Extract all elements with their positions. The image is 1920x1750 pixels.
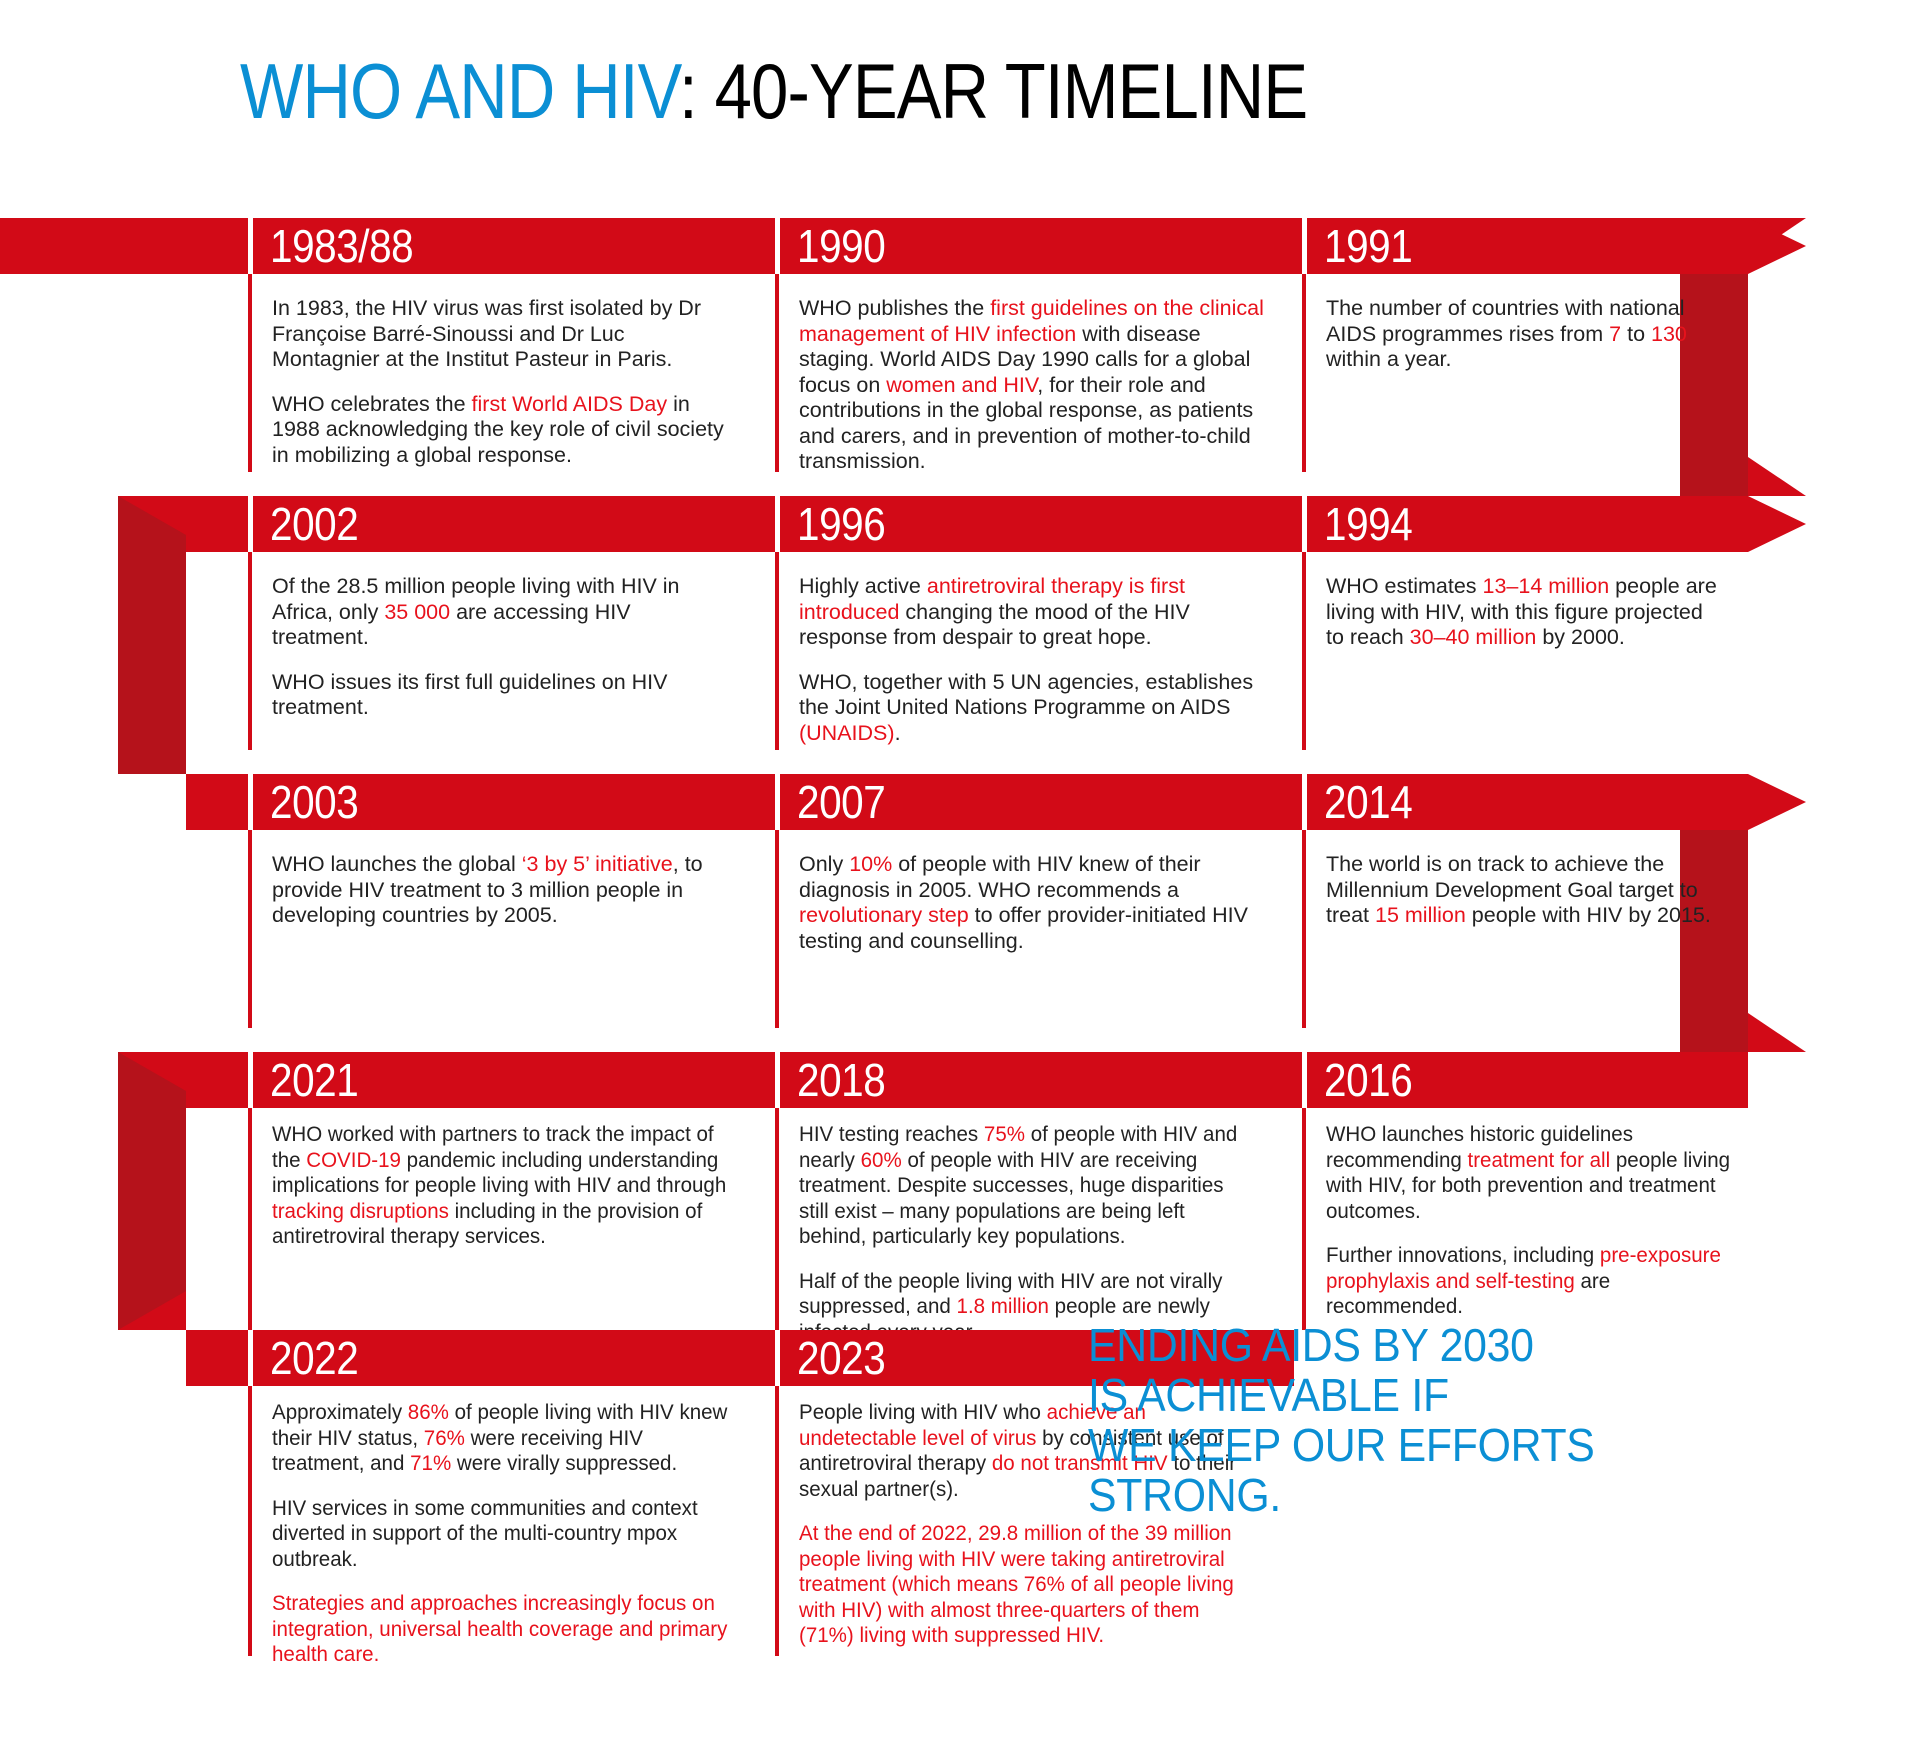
- body-text: People living with HIV who: [799, 1400, 1047, 1424]
- body-text: WHO issues its first full guidelines on …: [272, 670, 668, 720]
- highlight-text: COVID-19: [306, 1148, 401, 1172]
- row-1-header-gap-2: [775, 218, 780, 274]
- body-text: within a year.: [1326, 347, 1451, 371]
- row-3-year-1: 2003: [270, 774, 358, 830]
- row-4-header-bar: [186, 1052, 1748, 1108]
- paragraph: WHO issues its first full guidelines on …: [272, 670, 727, 721]
- row-3-arrow-head: [1748, 774, 1806, 830]
- body-text: Only: [799, 852, 849, 876]
- highlight-text: ‘3 by 5’ initiative: [522, 852, 673, 876]
- row-3-header-gap-2: [775, 774, 780, 830]
- row-4-header-gap-3: [1302, 1052, 1307, 1108]
- row-4-rule-3: [1302, 1108, 1306, 1330]
- highlight-text: revolutionary step: [799, 903, 969, 927]
- highlight-text: 1.8 million: [957, 1294, 1049, 1318]
- paragraph: Strategies and approaches increasingly f…: [272, 1591, 740, 1668]
- row-3-rule-1: [248, 830, 252, 1028]
- row-2-cell-3: WHO estimates 13–14 million people are l…: [1326, 574, 1726, 651]
- connector-right-3-tip-bottom: [1748, 974, 1806, 1052]
- highlight-text: first World AIDS Day: [472, 392, 668, 416]
- paragraph: WHO estimates 13–14 million people are l…: [1326, 574, 1726, 651]
- connector-left-4-tip-top: [118, 1052, 186, 1130]
- paragraph: HIV services in some communities and con…: [272, 1496, 740, 1573]
- row-2-cell-1: Of the 28.5 million people living with H…: [272, 574, 727, 721]
- row-4-year-1: 2021: [270, 1052, 358, 1108]
- row-2-rule-3: [1302, 552, 1306, 750]
- highlight-text: 75%: [984, 1122, 1025, 1146]
- highlight-text: 15 million: [1375, 903, 1466, 927]
- row-4-cell-3: WHO launches historic guidelines recomme…: [1326, 1122, 1746, 1320]
- closing-statement: ENDING AIDS BY 2030IS ACHIEVABLE IFWE KE…: [1088, 1320, 1595, 1520]
- row-4-year-3: 2016: [1324, 1052, 1412, 1108]
- row-1-year-2: 1990: [797, 218, 885, 274]
- row-5-year-1: 2022: [270, 1330, 358, 1386]
- body-text: WHO celebrates the: [272, 392, 472, 416]
- row-3-header-gap-1: [248, 774, 253, 830]
- row-4-rule-1: [248, 1108, 252, 1330]
- row-2-arrow-head: [1748, 496, 1806, 552]
- highlight-text: 60%: [861, 1148, 902, 1172]
- row-4-cell-1: WHO worked with partners to track the im…: [272, 1122, 740, 1250]
- paragraph: WHO worked with partners to track the im…: [272, 1122, 740, 1250]
- highlight-text: 7: [1609, 322, 1621, 346]
- row-1-arrow-head: [1748, 218, 1806, 274]
- row-1-cell-3: The number of countries with national AI…: [1326, 296, 1701, 373]
- body-text: HIV testing reaches: [799, 1122, 984, 1146]
- row-3-year-2: 2007: [797, 774, 885, 830]
- highlight-text: treatment for all: [1468, 1148, 1611, 1172]
- closing-line: ENDING AIDS BY 2030: [1088, 1320, 1595, 1370]
- highlight-text: 86%: [408, 1400, 449, 1424]
- highlight-text: Strategies and approaches increasingly f…: [272, 1591, 727, 1666]
- row-2-year-3: 1994: [1324, 496, 1412, 552]
- paragraph: Further innovations, including pre-expos…: [1326, 1243, 1746, 1320]
- body-text: people with HIV by 2015.: [1466, 903, 1711, 927]
- paragraph: Of the 28.5 million people living with H…: [272, 574, 727, 651]
- closing-line: WE KEEP OUR EFFORTS: [1088, 1420, 1595, 1470]
- body-text: were virally suppressed.: [451, 1451, 677, 1475]
- row-1-header-gap-3: [1302, 218, 1307, 274]
- row-5-cell-1: Approximately 86% of people living with …: [272, 1400, 740, 1668]
- row-5-header-gap-1: [248, 1330, 253, 1386]
- highlight-text: 10%: [849, 852, 892, 876]
- row-4-header-gap-2: [775, 1052, 780, 1108]
- row-5-header-gap-2: [775, 1330, 780, 1386]
- row-3-header-gap-3: [1302, 774, 1307, 830]
- body-text: HIV services in some communities and con…: [272, 1496, 698, 1571]
- body-text: WHO estimates: [1326, 574, 1483, 598]
- body-text: .: [895, 721, 901, 745]
- row-4-year-2: 2018: [797, 1052, 885, 1108]
- body-text: WHO, together with 5 UN agencies, establ…: [799, 670, 1253, 720]
- row-4-rule-2: [775, 1108, 779, 1330]
- body-text: to: [1621, 322, 1651, 346]
- closing-line: STRONG.: [1088, 1470, 1595, 1520]
- row-3-year-3: 2014: [1324, 774, 1412, 830]
- row-3-rule-2: [775, 830, 779, 1028]
- paragraph: At the end of 2022, 29.8 million of the …: [799, 1521, 1257, 1649]
- highlight-text: 30–40 million: [1410, 625, 1537, 649]
- paragraph: Approximately 86% of people living with …: [272, 1400, 740, 1477]
- row-5-rule-2: [775, 1386, 779, 1656]
- timeline: 1983/88 1990 1991 In 1983, the HIV virus…: [0, 0, 1920, 1750]
- row-4-header-gap-1: [248, 1052, 253, 1108]
- highlight-text: tracking disruptions: [272, 1199, 449, 1223]
- row-2-header-gap-2: [775, 496, 780, 552]
- body-text: WHO launches the global: [272, 852, 522, 876]
- body-text: Approximately: [272, 1400, 408, 1424]
- row-4-cell-2: HIV testing reaches 75% of people with H…: [799, 1122, 1257, 1345]
- closing-line: IS ACHIEVABLE IF: [1088, 1370, 1595, 1420]
- row-5-year-2: 2023: [797, 1330, 885, 1386]
- highlight-text: 35 000: [384, 600, 450, 624]
- row-1-rule-1: [248, 274, 252, 472]
- body-text: by 2000.: [1536, 625, 1624, 649]
- row-2-header-gap-3: [1302, 496, 1307, 552]
- paragraph: Only 10% of people with HIV knew of thei…: [799, 852, 1264, 954]
- row-1-cell-1: In 1983, the HIV virus was first isolate…: [272, 296, 727, 468]
- row-3-rule-3: [1302, 830, 1306, 1028]
- row-2-header-bar: [186, 496, 1748, 552]
- row-1-year-1: 1983/88: [270, 218, 413, 274]
- highlight-text: 76%: [424, 1426, 465, 1450]
- paragraph: Highly active antiretroviral therapy is …: [799, 574, 1279, 651]
- highlight-text: 130: [1651, 322, 1687, 346]
- row-3-header-bar: [186, 774, 1748, 830]
- row-2-year-1: 2002: [270, 496, 358, 552]
- paragraph: WHO, together with 5 UN agencies, establ…: [799, 670, 1279, 747]
- row-3-cell-3: The world is on track to achieve the Mil…: [1326, 852, 1741, 929]
- body-text: WHO publishes the: [799, 296, 990, 320]
- row-2-header-gap-1: [248, 496, 253, 552]
- paragraph: WHO launches historic guidelines recomme…: [1326, 1122, 1746, 1224]
- row-2-year-2: 1996: [797, 496, 885, 552]
- highlight-text: (UNAIDS): [799, 721, 895, 745]
- connector-right-1-tip-bottom: [1748, 418, 1806, 496]
- body-text: Highly active: [799, 574, 927, 598]
- body-text: In 1983, the HIV virus was first isolate…: [272, 296, 701, 371]
- row-1-rule-2: [775, 274, 779, 472]
- body-text: Further innovations, including: [1326, 1243, 1600, 1267]
- connector-left-2-tip-top: [118, 496, 186, 574]
- paragraph: WHO launches the global ‘3 by 5’ initiat…: [272, 852, 732, 929]
- row-2-cell-2: Highly active antiretroviral therapy is …: [799, 574, 1279, 746]
- row-2-rule-2: [775, 552, 779, 750]
- row-2-rule-1: [248, 552, 252, 750]
- row-1-rule-3: [1302, 274, 1306, 472]
- highlight-text: At the end of 2022, 29.8 million of the …: [799, 1521, 1234, 1647]
- connector-left-4-tip-bottom: [118, 1252, 186, 1330]
- row-1-header-gap-1: [248, 218, 253, 274]
- row-1-year-3: 1991: [1324, 218, 1412, 274]
- paragraph: The world is on track to achieve the Mil…: [1326, 852, 1741, 929]
- highlight-text: women and HIV: [886, 373, 1037, 397]
- row-3-cell-1: WHO launches the global ‘3 by 5’ initiat…: [272, 852, 732, 929]
- highlight-text: 71%: [410, 1451, 451, 1475]
- paragraph: WHO celebrates the first World AIDS Day …: [272, 392, 727, 469]
- row-3-cell-2: Only 10% of people with HIV knew of thei…: [799, 852, 1264, 954]
- row-1-cell-2: WHO publishes the first guidelines on th…: [799, 296, 1264, 475]
- paragraph: In 1983, the HIV virus was first isolate…: [272, 296, 727, 373]
- row-5-rule-1: [248, 1386, 252, 1656]
- paragraph: HIV testing reaches 75% of people with H…: [799, 1122, 1257, 1250]
- paragraph: WHO publishes the first guidelines on th…: [799, 296, 1264, 475]
- paragraph: The number of countries with national AI…: [1326, 296, 1701, 373]
- highlight-text: 13–14 million: [1483, 574, 1610, 598]
